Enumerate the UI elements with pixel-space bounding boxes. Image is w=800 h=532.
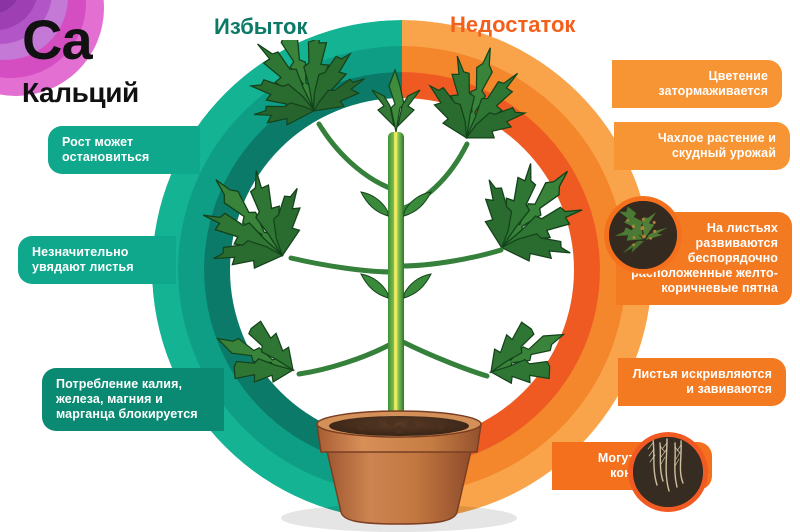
badge-deficit-stunted[interactable]: Чахлое растение и скудный урожай	[614, 122, 790, 170]
element-name: Кальций	[22, 78, 139, 108]
badge-excess-wilt[interactable]: Незначительно увядают листья	[18, 236, 176, 284]
badge-excess-growth[interactable]: Рост может остановиться	[48, 126, 200, 174]
infographic-canvas: Избыток Недостаток Ca Кальций Рост может…	[0, 0, 800, 532]
heading-excess: Избыток	[214, 14, 308, 40]
dying-roots-photo	[628, 432, 708, 512]
leaf-spots-photo	[604, 196, 682, 274]
element-symbol: Ca	[22, 14, 92, 66]
badge-deficit-curl[interactable]: Листья искривляются и завиваются	[618, 358, 786, 406]
dying-roots-image	[633, 437, 703, 507]
badge-deficit-bloom[interactable]: Цветение затормаживается	[612, 60, 782, 108]
leaf-spots-image	[609, 201, 677, 269]
heading-deficit: Недостаток	[450, 12, 575, 38]
plant-illustration	[185, 40, 615, 532]
badge-excess-uptake[interactable]: Потребление калия, железа, магния и марг…	[42, 368, 224, 431]
